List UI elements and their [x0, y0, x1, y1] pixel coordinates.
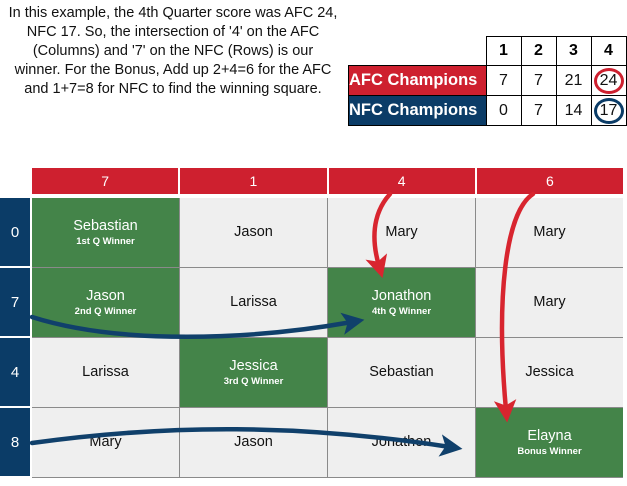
grid-row-headers: 0 7 4 8: [0, 198, 30, 486]
cell-name: Elayna: [527, 428, 571, 445]
cell-name: Larissa: [230, 294, 277, 311]
score-table-corner: [349, 37, 487, 66]
column-header-2[interactable]: 4: [329, 168, 477, 194]
grid-cell-r0c0[interactable]: Sebastian 1st Q Winner: [32, 198, 180, 268]
row-header-2[interactable]: 4: [0, 338, 30, 406]
cell-name: Mary: [385, 224, 417, 241]
grid-cell-r3c3[interactable]: Elayna Bonus Winner: [476, 408, 623, 478]
grid-cell-r2c2[interactable]: Sebastian: [328, 338, 476, 408]
cell-sublabel: 1st Q Winner: [76, 236, 135, 248]
grid-cell-r0c3[interactable]: Mary: [476, 198, 623, 268]
grid-row: Sebastian 1st Q Winner Jason Mary Mary: [32, 198, 623, 268]
nfc-score-q4-value: 17: [600, 102, 618, 119]
cell-name: Sebastian: [73, 218, 138, 235]
quarter-header-1: 1: [486, 37, 521, 66]
afc-score-q4-value: 24: [600, 72, 618, 89]
cell-name: Mary: [533, 224, 565, 241]
grid-cell-r1c0[interactable]: Jason 2nd Q Winner: [32, 268, 180, 338]
grid-cell-r2c3[interactable]: Jessica: [476, 338, 623, 408]
grid-column-headers: 7 1 4 6: [32, 168, 623, 194]
afc-score-q1: 7: [486, 66, 521, 96]
grid-cells: Sebastian 1st Q Winner Jason Mary Mary J…: [32, 198, 623, 486]
afc-score-q3: 21: [556, 66, 591, 96]
grid-cell-r2c1[interactable]: Jessica 3rd Q Winner: [180, 338, 328, 408]
grid-cell-r1c1[interactable]: Larissa: [180, 268, 328, 338]
column-header-0[interactable]: 7: [32, 168, 180, 194]
score-row-nfc: NFC Champions 0 7 14 17: [349, 96, 627, 126]
row-header-3[interactable]: 8: [0, 408, 30, 476]
nfc-score-q4: 17: [591, 96, 626, 126]
grid-cell-r3c1[interactable]: Jason: [180, 408, 328, 478]
nfc-score-q2: 7: [521, 96, 556, 126]
grid-cell-r2c0[interactable]: Larissa: [32, 338, 180, 408]
afc-team-label: AFC Champions: [349, 66, 487, 96]
nfc-score-q3: 14: [556, 96, 591, 126]
cell-name: Jonathon: [372, 434, 432, 451]
grid-row: Mary Jason Jonathon Elayna Bonus Winner: [32, 408, 623, 478]
cell-name: Jason: [234, 224, 273, 241]
quarter-header-3: 3: [556, 37, 591, 66]
afc-score-q4: 24: [591, 66, 626, 96]
cell-name: Jessica: [229, 358, 277, 375]
grid-row: Jason 2nd Q Winner Larissa Jonathon 4th …: [32, 268, 623, 338]
quarter-score-table: 1 2 3 4 AFC Champions 7 7 21 24 NFC Cham…: [348, 36, 627, 126]
cell-sublabel: 2nd Q Winner: [75, 306, 137, 318]
cell-name: Larissa: [82, 364, 129, 381]
cell-name: Mary: [89, 434, 121, 451]
nfc-score-q1: 0: [486, 96, 521, 126]
row-header-1[interactable]: 7: [0, 268, 30, 336]
quarter-header-2: 2: [521, 37, 556, 66]
grid-cell-r1c2[interactable]: Jonathon 4th Q Winner: [328, 268, 476, 338]
row-header-0[interactable]: 0: [0, 198, 30, 266]
cell-name: Sebastian: [369, 364, 434, 381]
score-header-row: 1 2 3 4: [349, 37, 627, 66]
cell-name: Jason: [86, 288, 125, 305]
cell-name: Jessica: [525, 364, 573, 381]
squares-grid: 7 1 4 6 0 7 4 8 Sebastian 1st Q Winner J…: [0, 168, 627, 486]
cell-name: Jason: [234, 434, 273, 451]
score-row-afc: AFC Champions 7 7 21 24: [349, 66, 627, 96]
grid-cell-r3c2[interactable]: Jonathon: [328, 408, 476, 478]
cell-sublabel: 3rd Q Winner: [224, 376, 284, 388]
column-header-3[interactable]: 6: [477, 168, 623, 194]
cell-name: Mary: [533, 294, 565, 311]
grid-row: Larissa Jessica 3rd Q Winner Sebastian J…: [32, 338, 623, 408]
cell-sublabel: 4th Q Winner: [372, 306, 431, 318]
cell-sublabel: Bonus Winner: [517, 446, 581, 458]
quarter-header-4: 4: [591, 37, 626, 66]
grid-cell-r1c3[interactable]: Mary: [476, 268, 623, 338]
afc-score-q2: 7: [521, 66, 556, 96]
nfc-team-label: NFC Champions: [349, 96, 487, 126]
grid-cell-r0c1[interactable]: Jason: [180, 198, 328, 268]
grid-cell-r0c2[interactable]: Mary: [328, 198, 476, 268]
explanation-text: In this example, the 4th Quarter score w…: [8, 4, 338, 99]
column-header-1[interactable]: 1: [180, 168, 328, 194]
grid-cell-r3c0[interactable]: Mary: [32, 408, 180, 478]
cell-name: Jonathon: [372, 288, 432, 305]
